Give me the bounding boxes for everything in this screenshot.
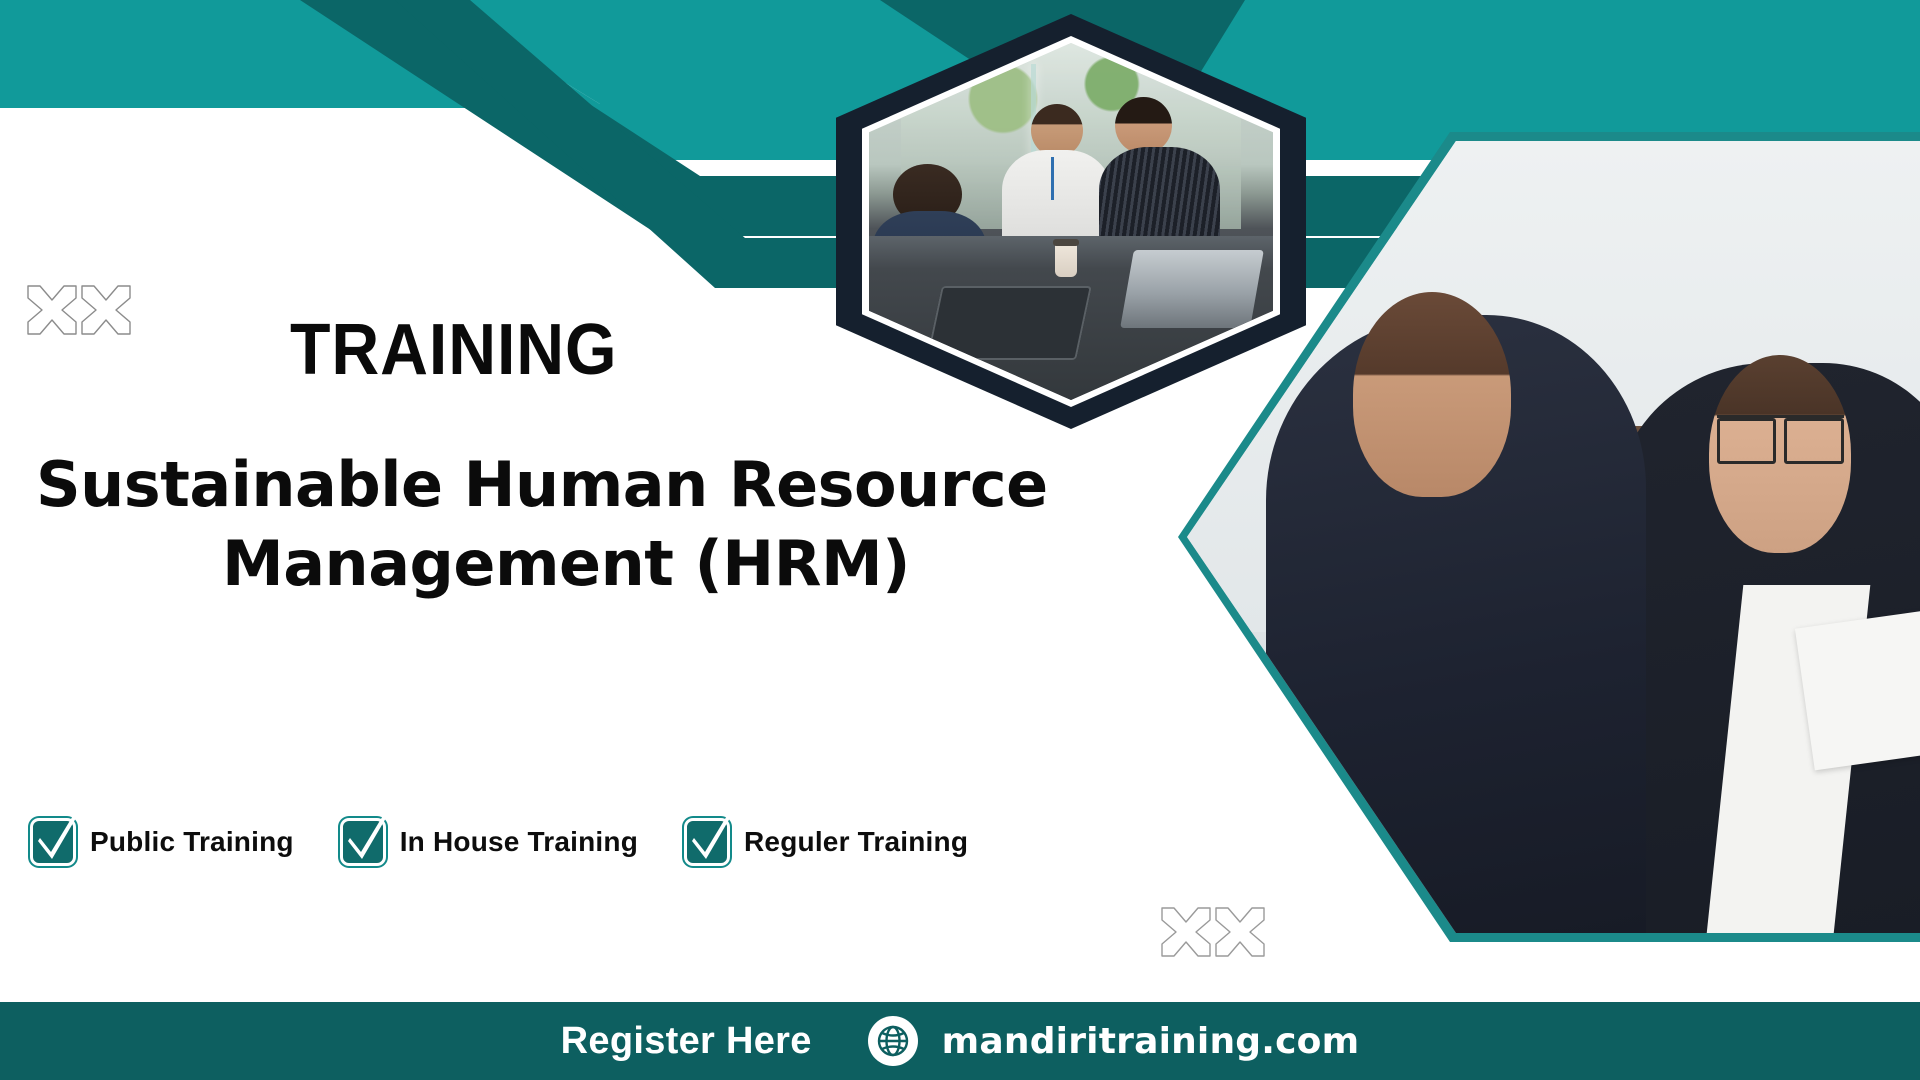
training-option-public[interactable]: Public Training	[30, 818, 294, 866]
training-options-list: Public Training In House Training Regule…	[30, 818, 968, 866]
training-option-label: Reguler Training	[744, 826, 968, 858]
training-option-inhouse[interactable]: In House Training	[340, 818, 638, 866]
checkbox-in-house-training[interactable]	[340, 818, 386, 866]
x-cross-outline-icon-group-top	[24, 278, 144, 348]
website-group[interactable]: mandiritraining.com	[868, 1016, 1360, 1066]
globe-icon	[868, 1016, 918, 1066]
x-cross-outline-icon-group-bottom	[1158, 900, 1278, 970]
kicker-training: TRAINING	[290, 314, 618, 386]
job-interview-hexagon	[1178, 132, 1920, 942]
footer-bar: Register Here mandiritraining.com	[0, 1002, 1920, 1080]
checkbox-reguler-training[interactable]	[684, 818, 730, 866]
checkmark-icon	[34, 812, 80, 866]
job-interview-photo	[1187, 141, 1920, 933]
checkbox-public-training[interactable]	[30, 818, 76, 866]
training-option-label: Public Training	[90, 826, 294, 858]
promo-banner: TRAINING Sustainable Human Resource Mana…	[0, 0, 1920, 1080]
website-url[interactable]: mandiritraining.com	[942, 1021, 1360, 1062]
headline-line-1: Sustainable Human Resource	[36, 448, 1048, 521]
training-option-label: In House Training	[400, 826, 638, 858]
checkmark-icon	[688, 812, 734, 866]
register-here-label[interactable]: Register Here	[561, 1020, 812, 1063]
checkmark-icon	[344, 812, 390, 866]
page-title: Sustainable Human Resource Management (H…	[36, 445, 1096, 604]
training-option-reguler[interactable]: Reguler Training	[684, 818, 968, 866]
headline-line-2: Management (HRM)	[36, 524, 1096, 603]
